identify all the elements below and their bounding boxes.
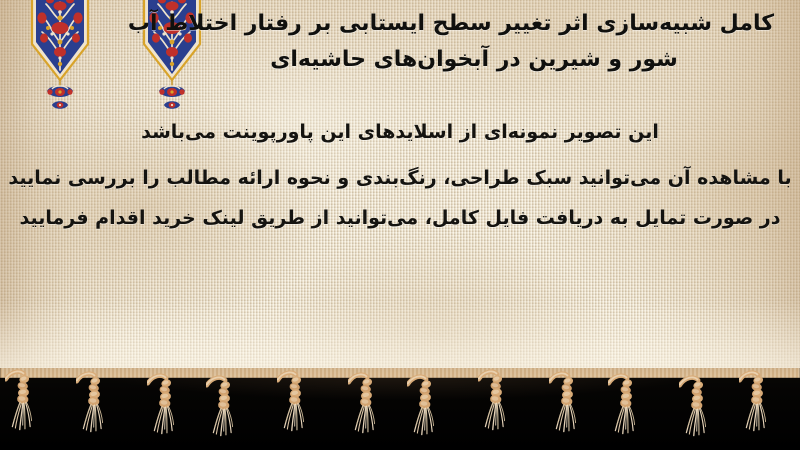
body-line-sample-notice: این تصویر نمونه‌ای از اسلایدهای این پاور…: [0, 112, 800, 152]
fringe-tassel: [407, 368, 441, 450]
carpet-fringe-border: [0, 368, 800, 450]
fringe-tassel: [739, 368, 773, 447]
slide-body-text: این تصویر نمونه‌ای از اسلایدهای این پاور…: [0, 112, 800, 238]
fringe-tassel: [478, 368, 512, 446]
slide-title-line-2: شور و شیرین در آبخوان‌های حاشیه‌ای: [174, 42, 774, 78]
fringe-tassel: [549, 368, 583, 448]
fringe-tassel: [5, 368, 39, 446]
fringe-tassel: [679, 368, 713, 450]
fringe-tassel: [206, 368, 240, 450]
persian-carpet-medallion-left-icon: [8, 0, 116, 110]
fringe-tassel: [277, 368, 311, 447]
slide-title-line-1: کامل شبیه‌سازی اثر تغییر سطح ایستابی بر …: [174, 6, 774, 42]
body-line-design-review: با مشاهده آن می‌توانید سبک طراحی، رنگ‌بن…: [0, 158, 800, 198]
body-line-purchase-link: در صورت تمایل به دریافت فایل کامل، می‌تو…: [0, 198, 800, 238]
slide-title: کامل شبیه‌سازی اثر تغییر سطح ایستابی بر …: [174, 6, 774, 78]
fringe-tassel: [76, 368, 110, 448]
fringe-tassel: [147, 368, 181, 450]
fringe-tassel: [608, 368, 642, 450]
fringe-tassel: [348, 368, 382, 449]
presentation-slide: کامل شبیه‌سازی اثر تغییر سطح ایستابی بر …: [0, 0, 800, 450]
